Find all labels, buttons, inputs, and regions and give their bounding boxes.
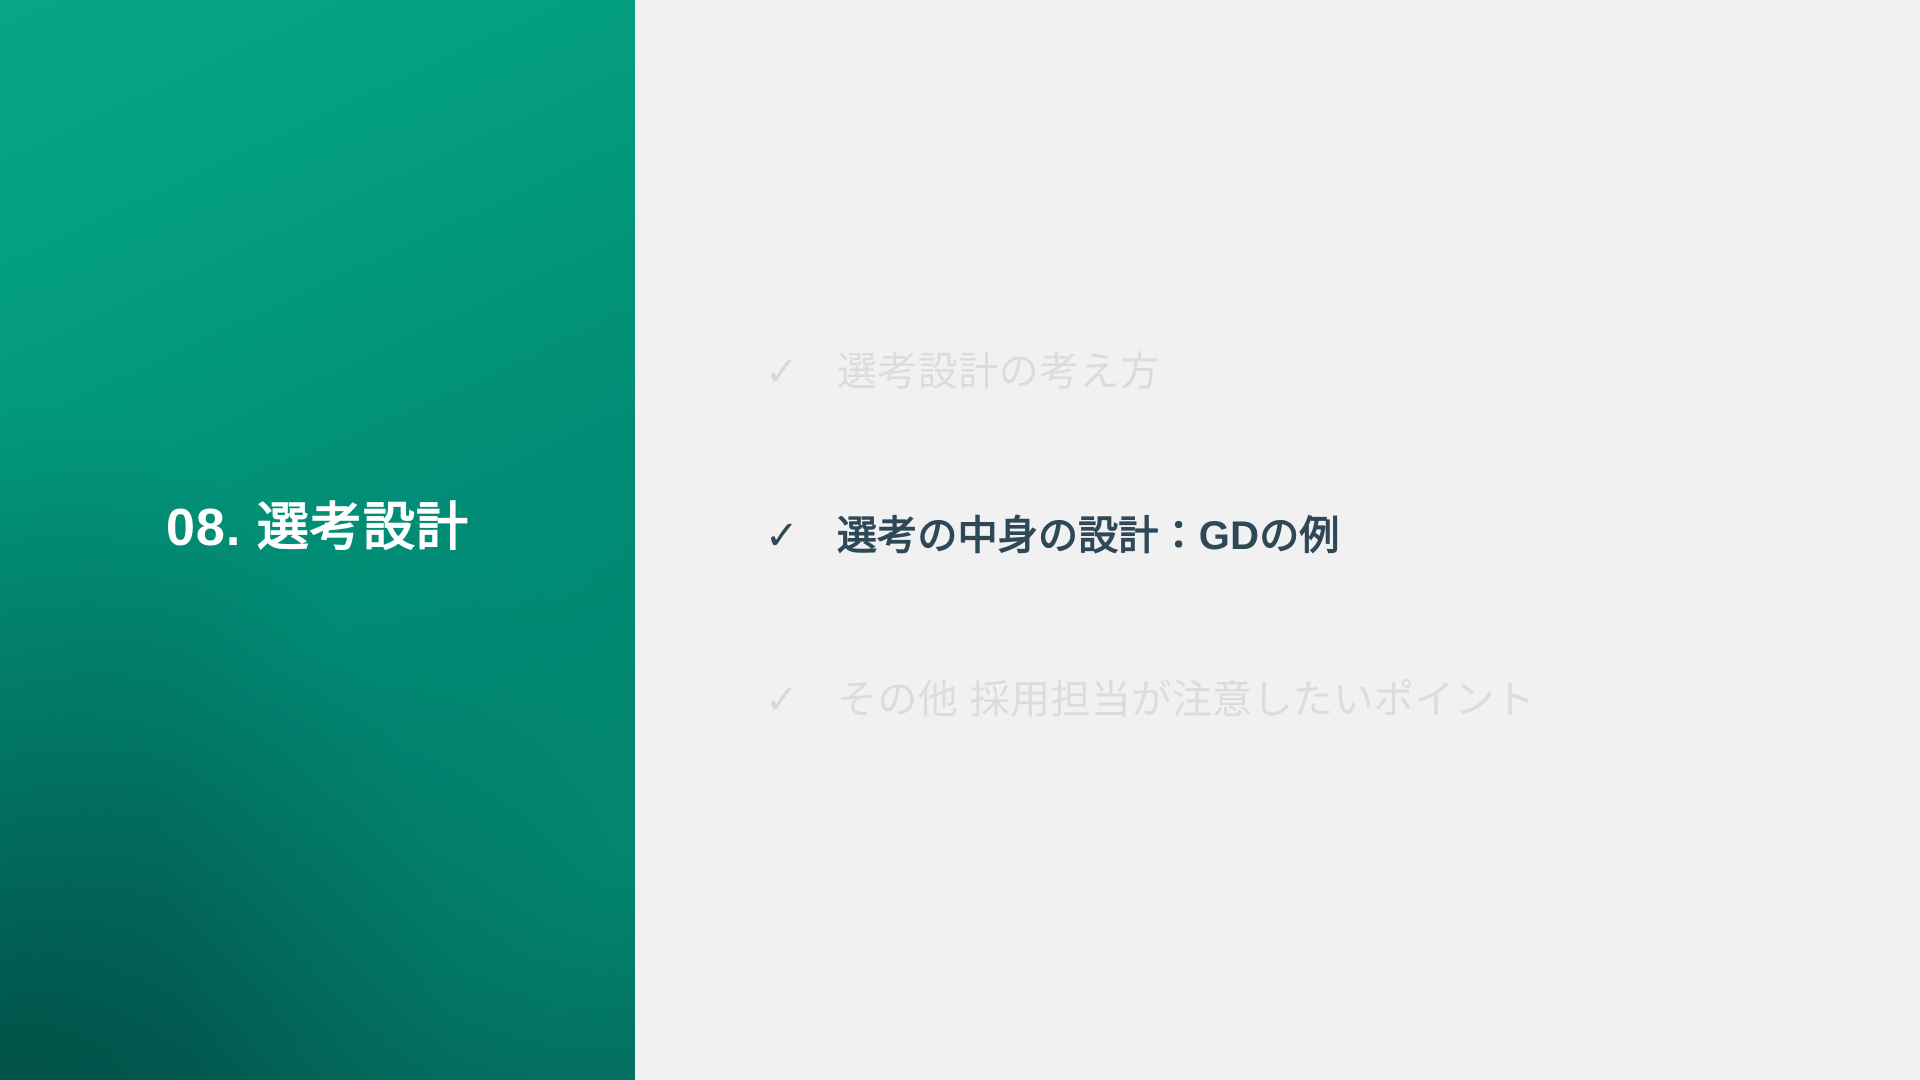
agenda-item-1[interactable]: ✓ 選考設計の考え方 bbox=[765, 336, 1160, 408]
agenda-item-label: 選考設計の考え方 bbox=[837, 336, 1160, 408]
check-icon: ✓ bbox=[765, 336, 837, 408]
section-title-panel: 08. 選考設計 bbox=[0, 0, 635, 1080]
agenda-item-label: その他 採用担当が注意したいポイント bbox=[837, 664, 1535, 736]
check-icon: ✓ bbox=[765, 500, 837, 572]
agenda-item-2[interactable]: ✓ 選考の中身の設計：GDの例 bbox=[765, 500, 1340, 572]
agenda-list: ✓ 選考設計の考え方 ✓ 選考の中身の設計：GDの例 ✓ その他 採用担当が注意… bbox=[635, 0, 1920, 1080]
check-icon: ✓ bbox=[765, 664, 837, 736]
agenda-item-3[interactable]: ✓ その他 採用担当が注意したいポイント bbox=[765, 664, 1535, 736]
section-title: 08. 選考設計 bbox=[0, 498, 635, 559]
agenda-item-label: 選考の中身の設計：GDの例 bbox=[837, 500, 1340, 572]
slide-root: 08. 選考設計 ✓ 選考設計の考え方 ✓ 選考の中身の設計：GDの例 ✓ その… bbox=[0, 0, 1920, 1080]
